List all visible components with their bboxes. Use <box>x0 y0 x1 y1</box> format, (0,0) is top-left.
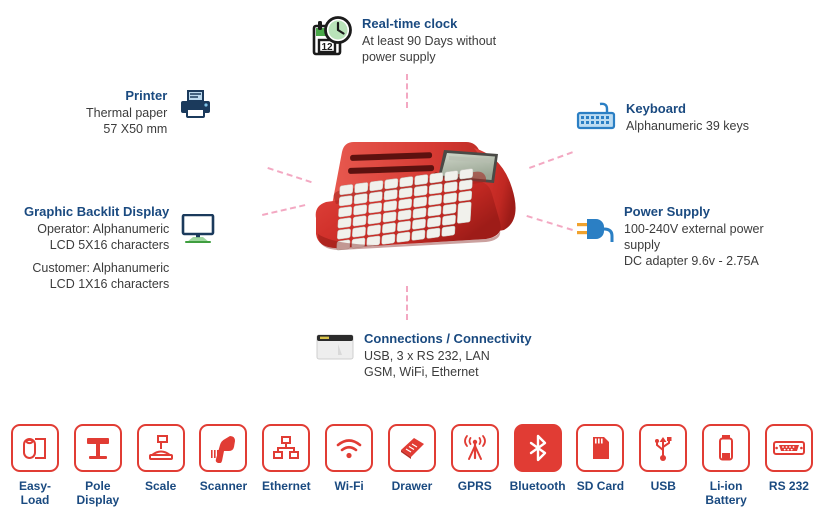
battery-icon <box>702 424 750 472</box>
strip-item-gprs[interactable]: GPRS <box>448 424 502 521</box>
feature-line: 100-240V external power <box>624 221 764 237</box>
feature-line: Operator: Alphanumeric <box>24 221 169 237</box>
strip-label: GPRS <box>458 479 492 493</box>
feature-power-supply: Power Supply 100-240V external power sup… <box>576 204 764 269</box>
strip-label: Wi-Fi <box>335 479 364 493</box>
feature-text: Connections / Connectivity USB, 3 x RS 2… <box>364 331 532 380</box>
bluetooth-icon <box>514 424 562 472</box>
pos-terminal-image <box>296 126 532 252</box>
feature-icon-strip: Easy-Load Pole Display Sc <box>0 424 824 521</box>
strip-label: Bluetooth <box>510 479 566 493</box>
strip-item-bluetooth[interactable]: Bluetooth <box>511 424 565 521</box>
calendar-clock-icon: 12 <box>312 16 352 63</box>
feature-line: At least 90 Days without <box>362 33 496 49</box>
strip-item-pole-display[interactable]: Pole Display <box>71 424 125 521</box>
strip-label: RS 232 <box>769 479 809 493</box>
feature-connections: Connections / Connectivity USB, 3 x RS 2… <box>316 331 532 380</box>
feature-text: Real-time clock At least 90 Days without… <box>362 16 496 65</box>
feature-text: Graphic Backlit Display Operator: Alphan… <box>24 204 169 292</box>
strip-label: SD Card <box>577 479 624 493</box>
cash-drawer-icon <box>388 424 436 472</box>
feature-line: Customer: Alphanumeric <box>24 260 169 276</box>
strip-item-wifi[interactable]: Wi-Fi <box>322 424 376 521</box>
feature-title: Printer <box>86 88 167 104</box>
strip-label: Drawer <box>392 479 433 493</box>
connector-power <box>526 215 572 231</box>
strip-item-ethernet[interactable]: Ethernet <box>259 424 313 521</box>
serial-port-icon <box>765 424 813 472</box>
feature-real-time-clock: 12 Real-time clock At least 90 Days with… <box>312 16 496 65</box>
strip-label: Easy-Load <box>8 479 62 507</box>
connector-bottom <box>406 286 408 320</box>
keyboard-icon <box>576 101 616 138</box>
feature-line: power supply <box>362 49 496 65</box>
feature-line: USB, 3 x RS 232, LAN <box>364 348 532 364</box>
wifi-icon <box>325 424 373 472</box>
strip-label: Scale <box>145 479 176 493</box>
network-icon <box>262 424 310 472</box>
feature-line: GSM, WiFi, Ethernet <box>364 364 532 380</box>
strip-item-rs-232[interactable]: RS 232 <box>762 424 816 521</box>
feature-line: supply <box>624 237 764 253</box>
feature-text: Printer Thermal paper 57 X50 mm <box>86 88 167 137</box>
feature-text: Power Supply 100-240V external power sup… <box>624 204 764 269</box>
connector-top <box>406 74 408 108</box>
usb-icon <box>639 424 687 472</box>
strip-label: Li-ion Battery <box>705 479 746 507</box>
infographic-canvas: 12 Real-time clock At least 90 Days with… <box>0 0 824 521</box>
connector-keyboard <box>529 151 573 169</box>
strip-item-easy-load[interactable]: Easy-Load <box>8 424 62 521</box>
strip-item-drawer[interactable]: Drawer <box>385 424 439 521</box>
feature-text: Keyboard Alphanumeric 39 keys <box>626 101 749 134</box>
strip-item-sd-card[interactable]: SD Card <box>573 424 627 521</box>
pole-display-icon <box>74 424 122 472</box>
feature-line: LCD 1X16 characters <box>24 276 169 292</box>
barcode-scanner-icon <box>199 424 247 472</box>
monitor-icon <box>181 214 215 249</box>
antenna-icon <box>451 424 499 472</box>
strip-label: USB <box>651 479 676 493</box>
feature-line: LCD 5X16 characters <box>24 237 169 253</box>
feature-title: Keyboard <box>626 101 749 117</box>
feature-line: Alphanumeric 39 keys <box>626 118 749 134</box>
feature-title: Connections / Connectivity <box>364 331 532 347</box>
strip-item-scale[interactable]: Scale <box>134 424 188 521</box>
strip-item-li-ion-battery[interactable]: Li-ion Battery <box>699 424 753 521</box>
svg-text:12: 12 <box>321 42 333 53</box>
strip-label: Pole Display <box>76 479 119 507</box>
scale-icon <box>137 424 185 472</box>
feature-line: 57 X50 mm <box>86 121 167 137</box>
power-plug-icon <box>576 216 614 249</box>
printer-icon <box>179 88 211 125</box>
feature-line: Thermal paper <box>86 105 167 121</box>
strip-label: Scanner <box>200 479 247 493</box>
sd-card-icon <box>576 424 624 472</box>
strip-item-usb[interactable]: USB <box>636 424 690 521</box>
feature-line: DC adapter 9.6v - 2.75A <box>624 253 764 269</box>
feature-keyboard: Keyboard Alphanumeric 39 keys <box>576 101 749 138</box>
feature-printer: Printer Thermal paper 57 X50 mm <box>86 88 211 137</box>
feature-graphic-backlit-display: Graphic Backlit Display Operator: Alphan… <box>24 204 215 292</box>
paper-roll-icon <box>11 424 59 472</box>
ports-panel-icon <box>316 333 354 366</box>
feature-title: Graphic Backlit Display <box>24 204 169 220</box>
strip-item-scanner[interactable]: Scanner <box>196 424 250 521</box>
strip-label: Ethernet <box>262 479 311 493</box>
feature-title: Real-time clock <box>362 16 496 32</box>
feature-title: Power Supply <box>624 204 764 220</box>
